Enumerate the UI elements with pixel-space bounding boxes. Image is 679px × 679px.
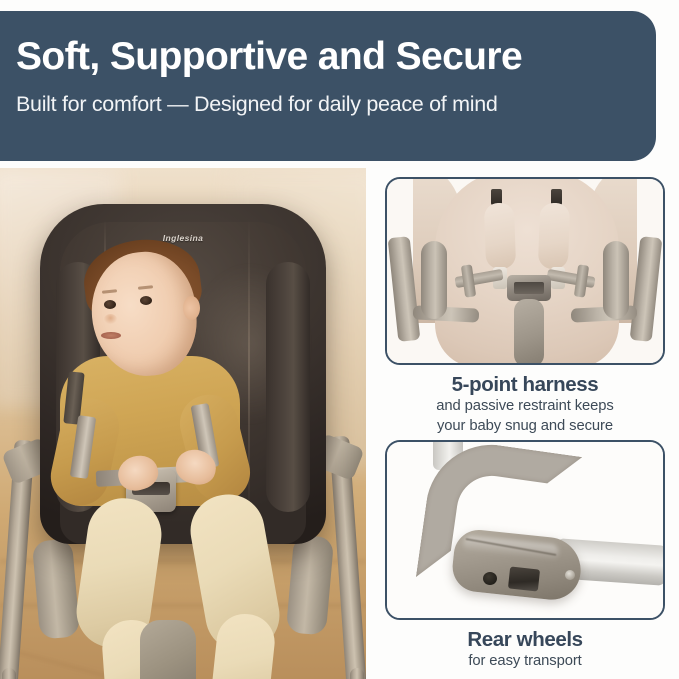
shoulder-pad-right [538, 202, 570, 269]
caption-subtext-line1: and passive restraint keeps [385, 397, 665, 417]
page-subtitle: Built for comfort — Designed for daily p… [16, 87, 656, 121]
crotch-strap-pad [514, 299, 544, 365]
caption-harness: 5-point harness and passive restraint ke… [385, 372, 665, 436]
baby-eye-right [140, 296, 152, 305]
brand-logo: Inglesina [163, 233, 203, 243]
shoulder-pad-left [484, 202, 516, 269]
header-banner: Soft, Supportive and Secure Built for co… [0, 11, 656, 161]
chair-leg-front-left [2, 668, 16, 679]
armrest-right [603, 241, 629, 319]
chair-bolster-right [266, 262, 310, 512]
chair-armrest-left [32, 538, 80, 639]
baby-ear [183, 296, 200, 320]
center-buckle [507, 275, 551, 301]
caption-title: Rear wheels [385, 627, 665, 652]
feature-panel-wheels [385, 440, 665, 620]
caption-subtext-line1: for easy transport [385, 652, 665, 672]
pivot-hole [483, 572, 497, 585]
caption-title: 5-point harness [385, 372, 665, 397]
caption-wheels: Rear wheels for easy transport [385, 627, 665, 672]
screw-icon [565, 570, 575, 580]
baby-eye-left [104, 300, 116, 309]
chair-armrest-right [286, 534, 334, 635]
caption-subtext-line2: your baby snug and secure [385, 417, 665, 437]
wheel-slot [508, 566, 540, 591]
crotch-pad [140, 620, 196, 679]
page-title: Soft, Supportive and Secure [16, 31, 656, 83]
buckle-face [514, 282, 544, 294]
baby-nose [104, 314, 117, 324]
baby-mouth [101, 332, 121, 339]
armrest-left [421, 241, 447, 319]
chair-leg-front-right [350, 668, 364, 679]
feature-panel-harness [385, 177, 665, 365]
main-product-photo: Inglesina [0, 168, 366, 679]
